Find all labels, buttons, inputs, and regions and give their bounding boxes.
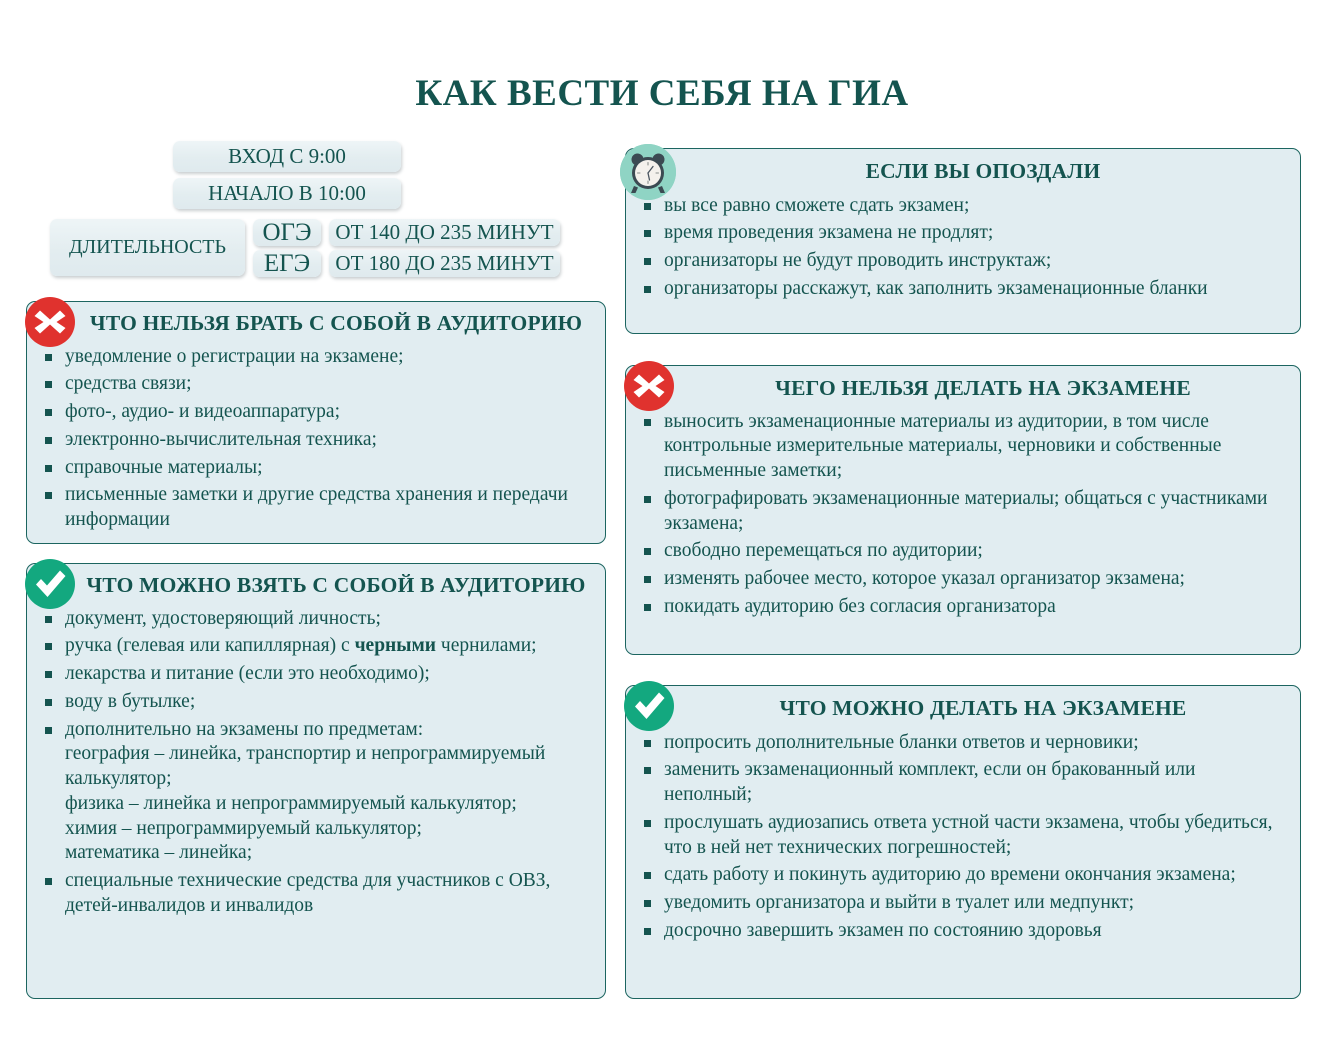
list-item: уведомить организатора и выйти в туалет … — [640, 891, 1286, 916]
list-item: сдать работу и покинуть аудиторию до вре… — [640, 863, 1286, 888]
panel-allowed-bring: ЧТО МОЖНО ВЗЯТЬ С СОБОЙ В АУДИТОРИЮ доку… — [26, 563, 606, 999]
item-text-post: чернилами; — [436, 635, 537, 656]
list-item: свободно перемещаться по аудитории; — [640, 539, 1286, 564]
list-item: электронно-вычислительная техника; — [41, 428, 591, 453]
list-item: изменять рабочее место, которое указал о… — [640, 567, 1286, 592]
panel-title-allowed-bring: ЧТО МОЖНО ВЗЯТЬ С СОБОЙ В АУДИТОРИЮ — [41, 574, 591, 598]
list-forbidden-do: выносить экзаменационные материалы из ау… — [640, 410, 1286, 620]
list-item: выносить экзаменационные материалы из ау… — [640, 410, 1286, 484]
list-item: прослушать аудиозапись ответа устной час… — [640, 811, 1286, 861]
list-item: письменные заметки и другие средства хра… — [41, 483, 591, 533]
list-item: вы все равно сможете сдать экзамен; — [640, 194, 1286, 219]
list-item: фото-, аудио- и видеоаппаратура; — [41, 400, 591, 425]
cross-circle-icon — [24, 296, 76, 348]
list-late: вы все равно сможете сдать экзамен; врем… — [640, 194, 1286, 302]
entry-time-chip: ВХОД С 9:00 — [173, 141, 401, 172]
item-text-pre: ручка (гелевая или капиллярная) с — [65, 635, 355, 656]
list-item: организаторы не будут проводить инструкт… — [640, 249, 1286, 274]
cross-circle-icon — [623, 360, 675, 412]
page-title: КАК ВЕСТИ СЕБЯ НА ГИА — [0, 72, 1324, 115]
list-item: специальные технические средства для уча… — [41, 869, 591, 919]
panel-allowed-do: ЧТО МОЖНО ДЕЛАТЬ НА ЭКЗАМЕНЕ попросить д… — [625, 685, 1301, 999]
list-item: средства связи; — [41, 372, 591, 397]
ege-label-chip: ЕГЭ — [253, 250, 321, 277]
panel-title-forbidden-do: ЧЕГО НЕЛЬЗЯ ДЕЛАТЬ НА ЭКЗАМЕНЕ — [640, 377, 1286, 401]
panel-title-late: ЕСЛИ ВЫ ОПОЗДАЛИ — [640, 160, 1286, 184]
item-text-bold: черными — [355, 635, 436, 656]
list-item: воду в бутылке; — [41, 690, 591, 715]
list-item-continuation: физика – линейка и непрограммируемый кал… — [41, 792, 591, 817]
list-item-continuation: химия – непрограммируемый калькулятор; — [41, 817, 591, 842]
list-item: время проведения экзамена не продлят; — [640, 221, 1286, 246]
list-allowed-do: попросить дополнительные бланки ответов … — [640, 731, 1286, 944]
list-forbidden-bring: уведомление о регистрации на экзамене; с… — [41, 345, 591, 533]
list-item: ручка (гелевая или капиллярная) с черным… — [41, 634, 591, 659]
list-item: документ, удостоверяющий личность; — [41, 607, 591, 632]
list-item-continuation: география – линейка, транспортир и непро… — [41, 742, 591, 792]
ege-duration-chip: ОТ 180 ДО 235 МИНУТ — [329, 250, 560, 277]
oge-label-chip: ОГЭ — [253, 219, 321, 246]
panel-forbidden-do: ЧЕГО НЕЛЬЗЯ ДЕЛАТЬ НА ЭКЗАМЕНЕ выносить … — [625, 365, 1301, 655]
list-item: фотографировать экзаменационные материал… — [640, 487, 1286, 537]
panel-title-forbidden-bring: ЧТО НЕЛЬЗЯ БРАТЬ С СОБОЙ В АУДИТОРИЮ — [41, 312, 591, 336]
list-item: попросить дополнительные бланки ответов … — [640, 731, 1286, 756]
list-item: организаторы расскажут, как заполнить эк… — [640, 277, 1286, 302]
oge-duration-chip: ОТ 140 ДО 235 МИНУТ — [329, 219, 560, 246]
list-item: заменить экзаменационный комплект, если … — [640, 758, 1286, 808]
list-item: покидать аудиторию без согласия организа… — [640, 595, 1286, 620]
list-item: справочные материалы; — [41, 456, 591, 481]
list-item: досрочно завершить экзамен по состоянию … — [640, 919, 1286, 944]
list-item-continuation: математика – линейка; — [41, 841, 591, 866]
alarm-clock-icon — [620, 144, 676, 200]
list-item: дополнительно на экзамены по предметам: — [41, 718, 591, 743]
panel-title-allowed-do: ЧТО МОЖНО ДЕЛАТЬ НА ЭКЗАМЕНЕ — [640, 697, 1286, 721]
duration-label-chip: ДЛИТЕЛЬНОСТЬ — [50, 219, 245, 276]
list-item: лекарства и питание (если это необходимо… — [41, 662, 591, 687]
panel-late: ЕСЛИ ВЫ ОПОЗДАЛИ вы все равно сможете сд… — [625, 148, 1301, 334]
check-circle-icon — [623, 680, 675, 732]
start-time-chip: НАЧАЛО В 10:00 — [173, 178, 401, 209]
list-allowed-bring: документ, удостоверяющий личность; ручка… — [41, 607, 591, 919]
list-item: уведомление о регистрации на экзамене; — [41, 345, 591, 370]
panel-forbidden-bring: ЧТО НЕЛЬЗЯ БРАТЬ С СОБОЙ В АУДИТОРИЮ уве… — [26, 301, 606, 544]
check-circle-icon — [24, 558, 76, 610]
